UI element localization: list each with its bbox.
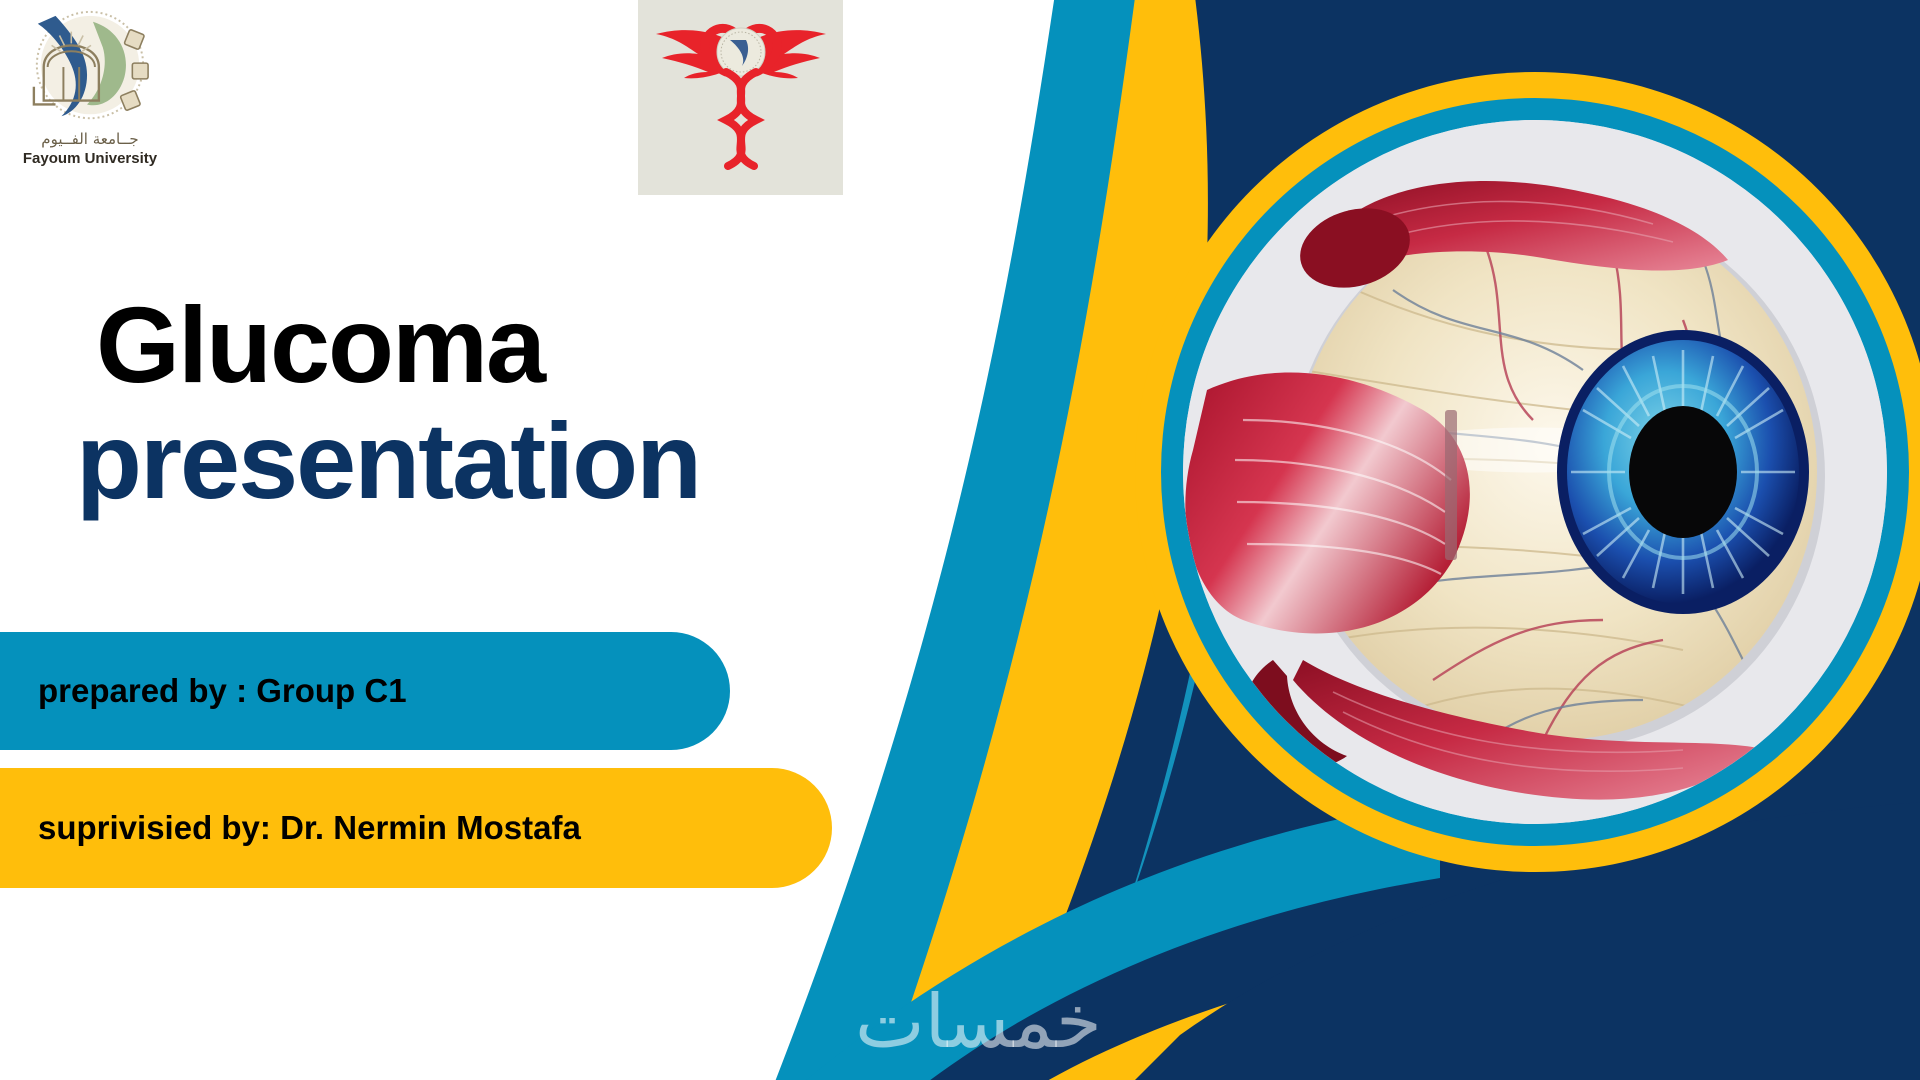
supervised-by-banner: suprivisied by: Dr. Nermin Mostafa	[0, 768, 832, 888]
eyeball-image-frame: K nages	[1135, 72, 1920, 872]
prepared-by-banner: prepared by : Group C1	[0, 632, 730, 750]
anatomical-eyeball-illustration: K nages	[1183, 120, 1887, 824]
university-emblem-icon	[15, 6, 165, 134]
caduceus-icon	[646, 8, 836, 188]
prepared-by-label: prepared by : Group C1	[38, 672, 407, 710]
fayoum-university-logo: جــامعة الفــيوم Fayoum University	[0, 0, 180, 192]
title-line-2: presentation	[76, 406, 1026, 516]
caduceus-medical-logo	[638, 0, 843, 195]
title-line-1: Glucoma	[96, 290, 1026, 400]
title-slide: جــامعة الفــيوم Fayoum University Gluco…	[0, 0, 1920, 1080]
supervised-by-label: suprivisied by: Dr. Nermin Mostafa	[38, 809, 581, 847]
slide-title: Glucoma presentation	[96, 290, 1026, 516]
university-english-name: Fayoum University	[23, 150, 157, 167]
university-arabic-name: جــامعة الفــيوم	[41, 130, 138, 148]
